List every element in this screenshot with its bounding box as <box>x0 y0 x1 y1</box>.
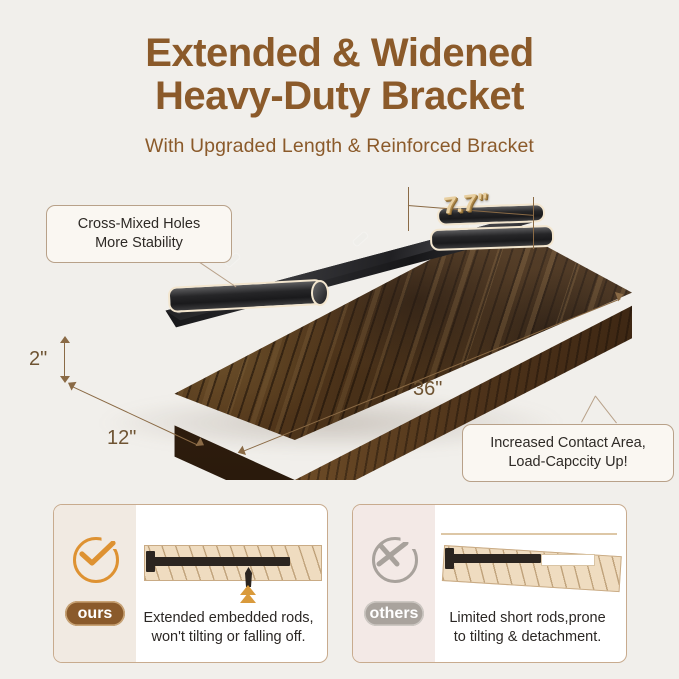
thickness-arrow-up <box>60 336 70 343</box>
page-subtitle: With Upgraded Length & Reinforced Bracke… <box>0 135 679 158</box>
card-others-caption-line-2: to tilting & detachment. <box>437 628 618 648</box>
product-infographic: Extended & Widened Heavy-Duty Bracket Wi… <box>0 0 679 679</box>
bracket-dim-line-left <box>408 187 409 231</box>
card-ours-caption-line-1: Extended embedded rods, <box>138 609 319 629</box>
callout-increased-contact-area: Increased Contact Area, Load-Capccity Up… <box>462 424 674 482</box>
thickness-dim-line <box>64 341 65 379</box>
callout-left-line-2: More Stability <box>59 234 219 253</box>
bracket-dim-line-right <box>533 197 534 249</box>
badge-others: others <box>364 601 424 626</box>
card-others-caption-line-1: Limited short rods,prone <box>437 609 618 629</box>
load-arrow-lower <box>240 593 256 603</box>
detachment-gap <box>541 554 595 566</box>
length-dimension-label: 36" <box>413 378 442 401</box>
card-ours-caption: Extended embedded rods, won't tilting or… <box>138 609 319 648</box>
screw-icon <box>244 567 253 587</box>
diagram-short-rod <box>437 523 623 601</box>
badge-ours: ours <box>65 601 125 626</box>
x-circle-icon <box>368 533 420 585</box>
page-title: Extended & Widened Heavy-Duty Bracket <box>0 32 679 118</box>
rod-end-cap <box>311 280 329 306</box>
x-mark <box>373 542 411 568</box>
callout-right-line-2: Load-Capccity Up! <box>475 453 661 472</box>
comparison-card-others: others Limited short rods,prone to tilti… <box>352 504 627 663</box>
title-line-1: Extended & Widened <box>145 31 533 75</box>
rail-slot-hole <box>353 232 368 246</box>
reference-line <box>441 533 617 535</box>
diagram-extended-rod <box>138 523 324 601</box>
callout-left-line-1: Cross-Mixed Holes <box>59 215 219 234</box>
check-mark <box>78 541 116 567</box>
check-circle-icon <box>69 533 121 585</box>
card-ours-caption-line-2: won't tilting or falling off. <box>138 628 319 648</box>
wall-plank-tilted <box>442 545 622 592</box>
card-others-caption: Limited short rods,prone to tilting & de… <box>437 609 618 648</box>
badge-others-label: others <box>370 605 419 623</box>
callout-cross-mixed-holes: Cross-Mixed Holes More Stability <box>46 205 232 263</box>
depth-dimension-label: 12" <box>107 427 136 450</box>
title-line-2: Heavy-Duty Bracket <box>0 75 679 118</box>
thickness-dimension-label: 2" <box>29 348 47 371</box>
plank-hatching <box>443 546 621 591</box>
bracket-dimension-label: 7.7" <box>442 187 490 219</box>
callout-right-line-1: Increased Contact Area, <box>475 434 661 453</box>
badge-ours-label: ours <box>78 605 113 623</box>
rod-body <box>430 225 555 251</box>
embedded-rod <box>152 557 290 566</box>
short-rod <box>451 554 541 563</box>
comparison-card-ours: ours Extended embedded rods, won't tilti… <box>53 504 328 663</box>
